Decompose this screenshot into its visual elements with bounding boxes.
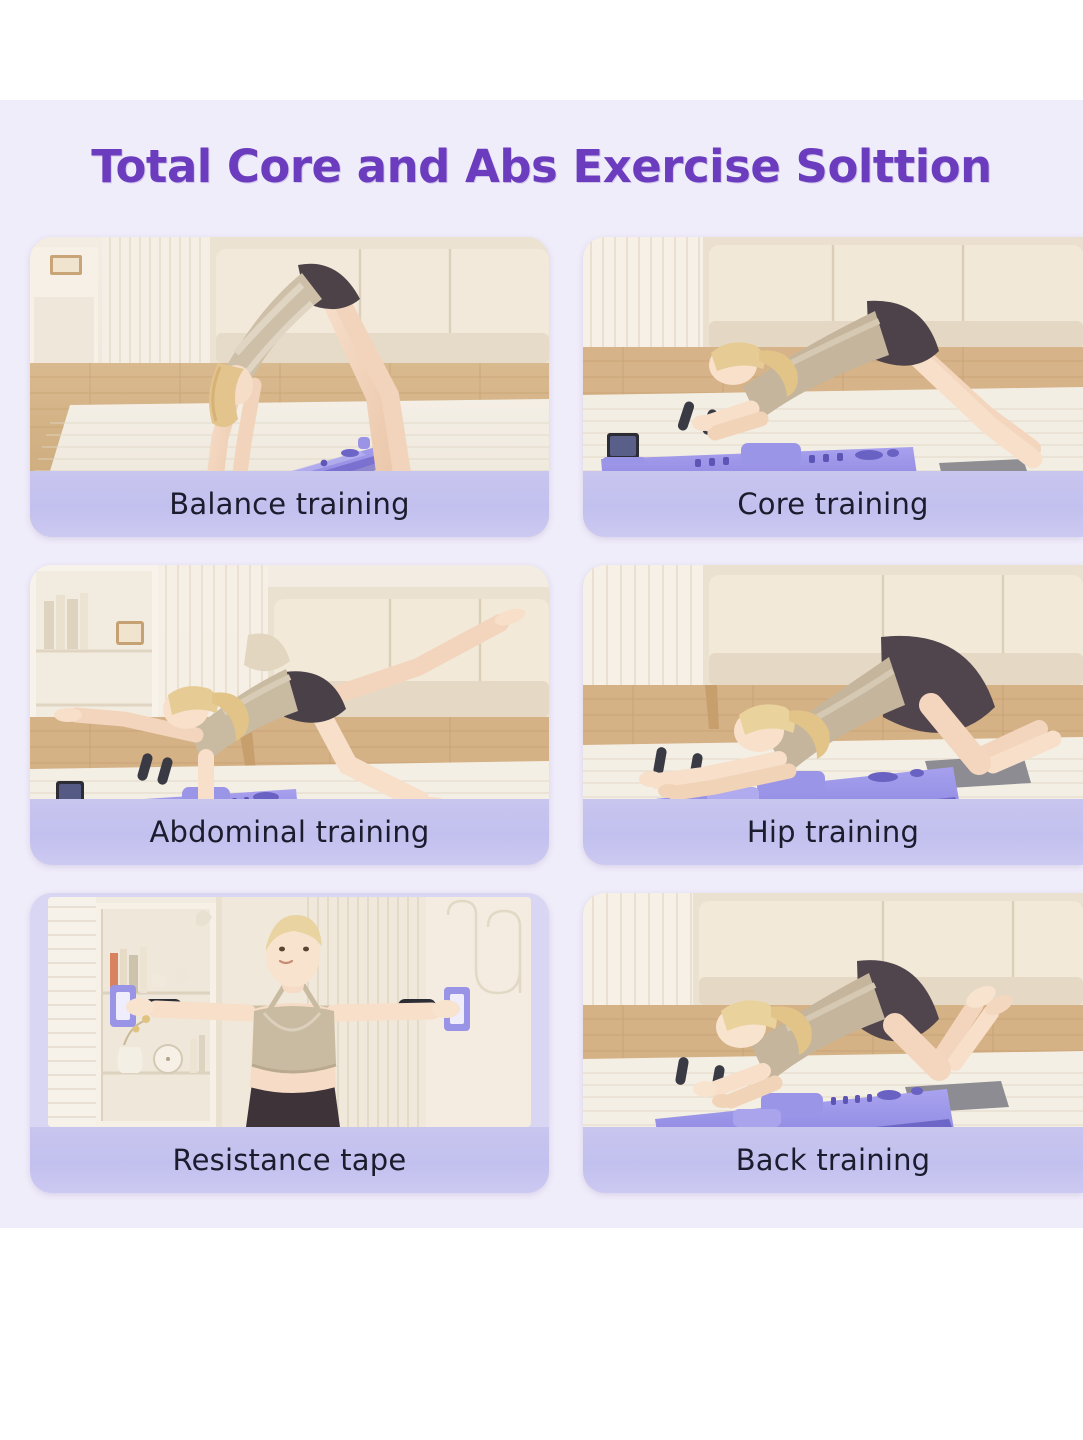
photo-resistance-tape [48,897,531,1127]
feature-card-grid: Balance training [30,237,1083,1193]
page-title: Total Core and Abs Exercise Solttion [0,140,1083,193]
card-caption: Abdominal training [30,799,549,865]
feature-card-hip-training[interactable]: Hip training [583,565,1083,865]
card-caption: Balance training [30,471,549,537]
feature-card-abdominal-training[interactable]: Abdominal training [30,565,549,865]
card-caption: Core training [583,471,1083,537]
feature-card-resistance-tape[interactable]: Resistance tape [30,893,549,1193]
feature-card-back-training[interactable]: Back training [583,893,1083,1193]
card-caption: Resistance tape [30,1127,549,1193]
feature-card-balance-training[interactable]: Balance training [30,237,549,537]
card-caption: Hip training [583,799,1083,865]
card-caption: Back training [583,1127,1083,1193]
feature-card-core-training[interactable]: Core training [583,237,1083,537]
product-infographic: Total Core and Abs Exercise Solttion [0,0,1083,1440]
